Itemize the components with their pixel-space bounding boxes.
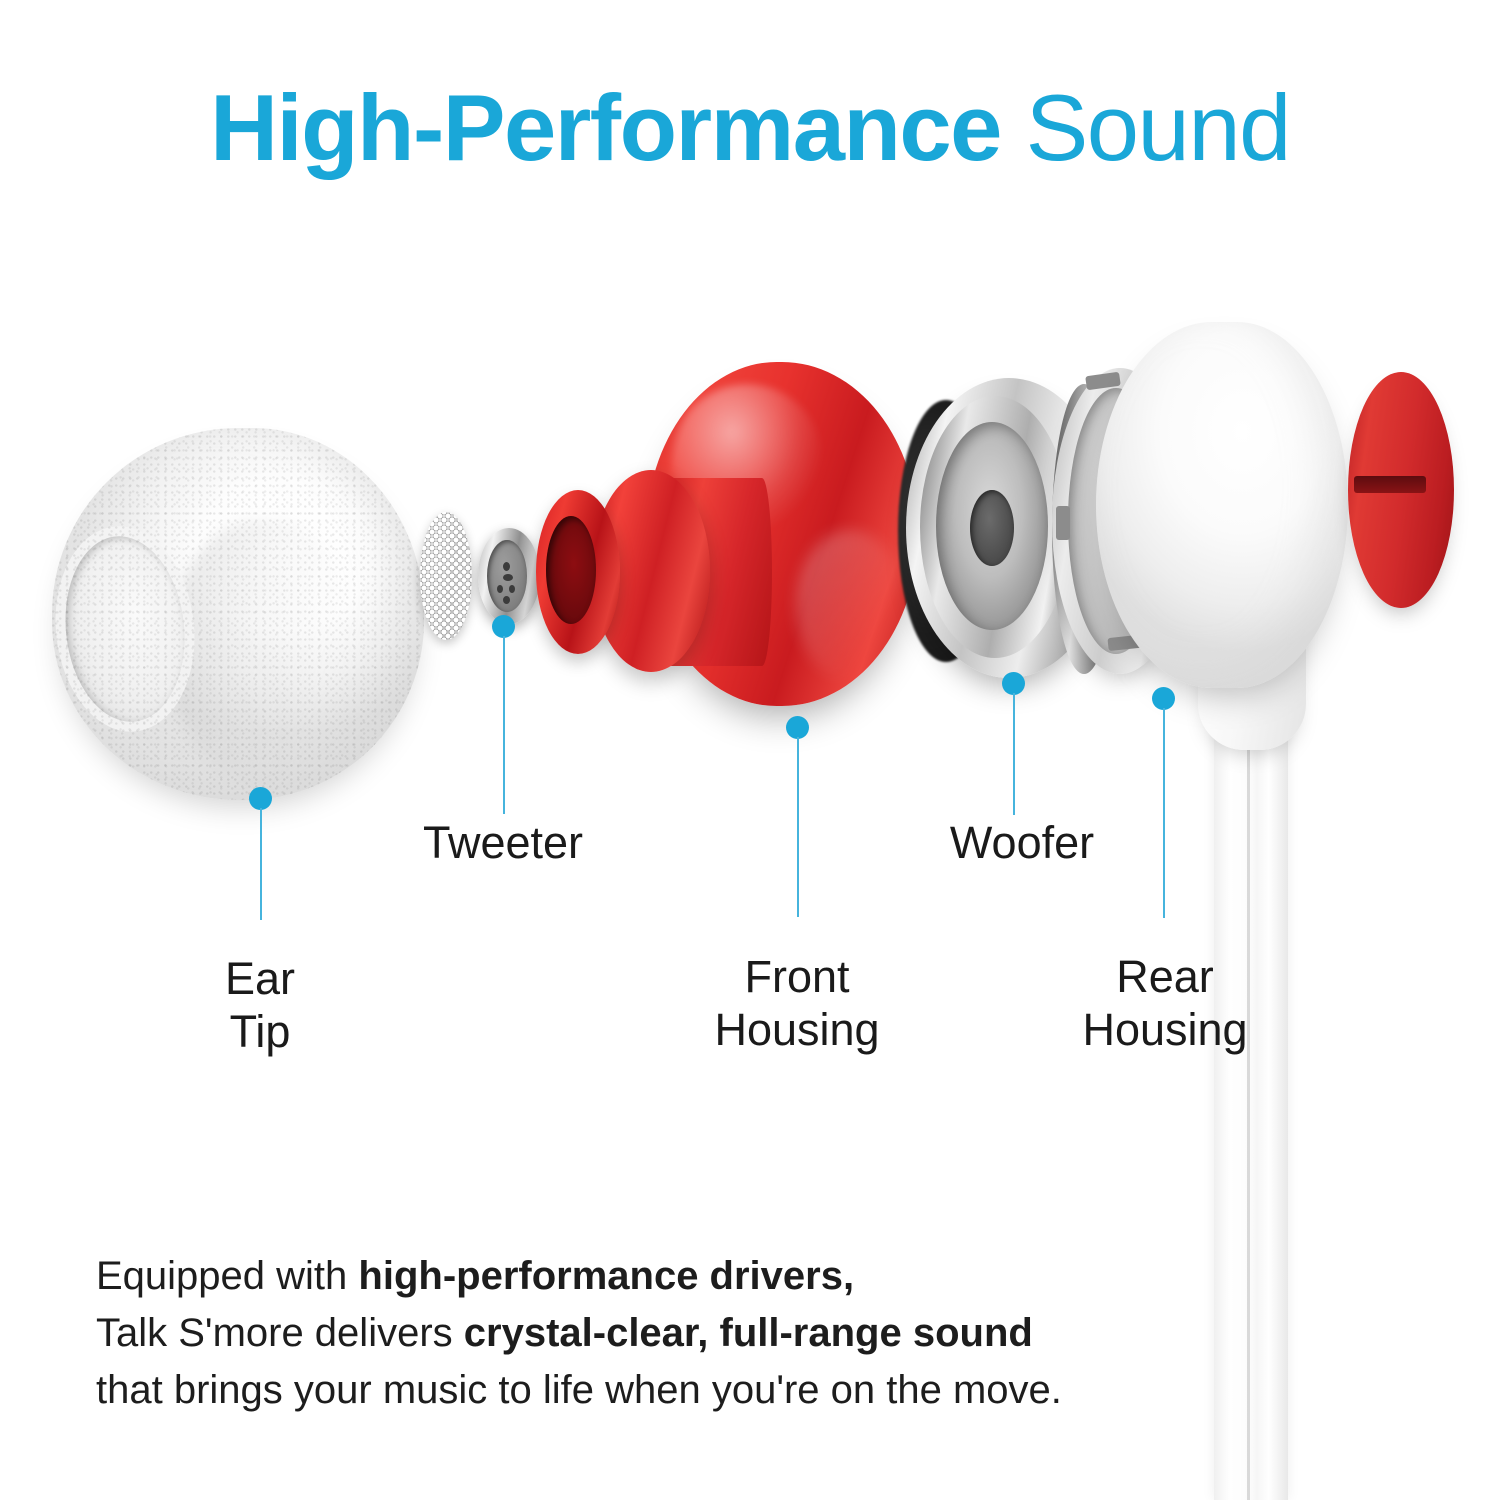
callout-dot-icon: [1152, 687, 1175, 710]
caption-line-2: Talk S'more delivers crystal-clear, full…: [96, 1305, 1096, 1362]
woofer-cone: [936, 422, 1048, 630]
caption-line-1: Equipped with high-performance drivers,: [96, 1248, 1096, 1305]
red-cap-slot: [1354, 476, 1426, 493]
callout-dot-icon: [492, 615, 515, 638]
woofer-dust-cap: [970, 490, 1014, 566]
tweeter-face: [487, 540, 527, 612]
tweeter-vent-hole: [503, 574, 513, 581]
front-housing-highlight: [796, 530, 904, 682]
callout-label-ear-tip: Ear Tip: [225, 952, 295, 1058]
rear-housing-notch: [1056, 506, 1070, 540]
tweeter-vent-hole: [497, 585, 503, 593]
callout-leader-line: [797, 737, 799, 917]
ear-tip-part: [52, 428, 424, 800]
callout-leader-line: [1163, 708, 1165, 918]
rear-housing-red-cap: [1348, 372, 1454, 608]
caption-line-3: that brings your music to life when you'…: [96, 1362, 1096, 1419]
caption-line-2-emphasis: crystal-clear, full-range sound: [464, 1311, 1033, 1355]
caption-block: Equipped with high-performance drivers, …: [96, 1248, 1096, 1418]
front-housing-nozzle: [536, 490, 620, 654]
tweeter-part: [478, 528, 540, 624]
tweeter-vent-hole: [503, 562, 510, 571]
tweeter-mesh-grille: [420, 512, 472, 640]
caption-line-2-plain: Talk S'more delivers: [96, 1311, 464, 1355]
woofer-outer-ring: [920, 396, 1070, 658]
callout-leader-line: [1013, 693, 1015, 815]
front-housing-bore: [546, 516, 596, 624]
ear-tip-shading: [170, 520, 348, 782]
tweeter-vent-hole: [509, 585, 515, 593]
callout-label-woofer: Woofer: [950, 816, 1094, 869]
earphone-cable: [1214, 700, 1288, 1500]
callout-leader-line: [260, 808, 262, 920]
callout-dot-icon: [249, 787, 272, 810]
ear-tip-bore: [57, 530, 194, 727]
rear-housing-part: [1096, 322, 1348, 688]
tweeter-vent-hole: [503, 596, 510, 604]
caption-line-1-emphasis: high-performance drivers,: [358, 1254, 854, 1298]
callout-dot-icon: [786, 716, 809, 739]
caption-line-1-plain: Equipped with: [96, 1254, 358, 1298]
callout-leader-line: [503, 636, 505, 814]
callout-dot-icon: [1002, 672, 1025, 695]
infographic-page: High-Performance Sound: [0, 0, 1500, 1500]
callout-label-tweeter: Tweeter: [423, 816, 583, 869]
callout-label-front-housing: Front Housing: [714, 950, 879, 1056]
callout-label-rear-housing: Rear Housing: [1082, 950, 1247, 1056]
